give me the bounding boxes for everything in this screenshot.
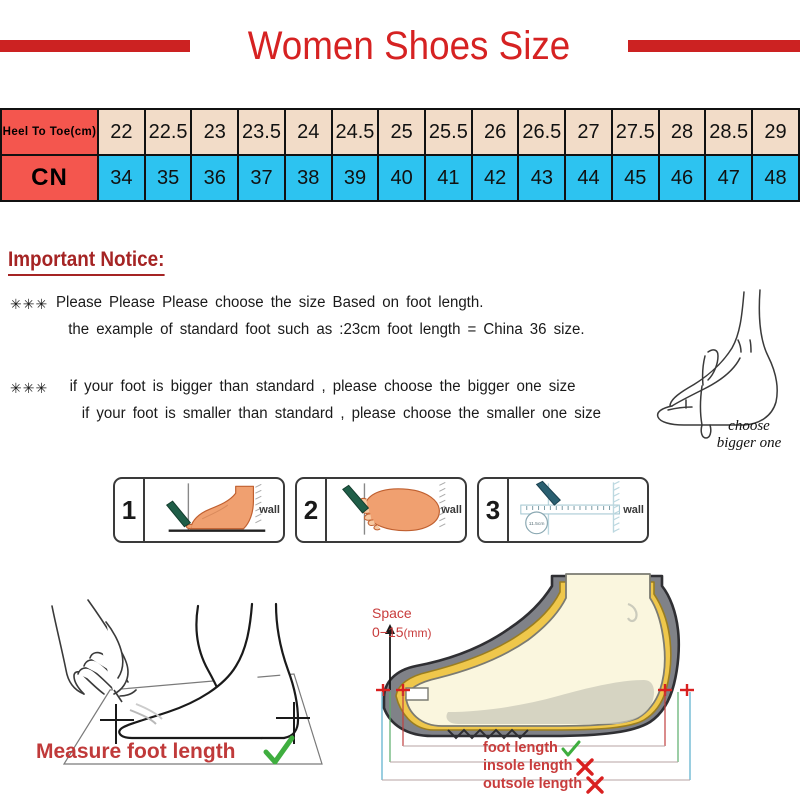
notice-line: if your foot is smaller than standard , … [10,401,650,426]
wall-label: wall [259,504,280,516]
title-rule-right [628,40,800,52]
cn-cell: 48 [752,155,799,201]
wall-label: wall [623,504,644,516]
choose-bigger-one-caption: choose bigger one [694,418,800,452]
measurement-label: foot length [483,740,558,758]
step-number: 2 [297,479,327,541]
cn-cell: 44 [565,155,612,201]
size-conversion-table: Heel To Toe(cm) 22 22.5 23 23.5 24 24.5 … [0,108,800,202]
row-header-heel-to-toe: Heel To Toe(cm) [1,109,98,155]
cm-cell: 24.5 [332,109,379,155]
page-title: Women Shoes Size [208,26,611,66]
cn-cell: 34 [98,155,145,201]
cn-cell: 45 [612,155,659,201]
cn-cell: 38 [285,155,332,201]
measuring-steps: 1 wall [113,477,649,543]
caption-line-1: choose [694,418,800,435]
cn-cell: 40 [378,155,425,201]
step-number: 1 [115,479,145,541]
cm-cell: 25 [378,109,425,155]
step-panel-1: 1 wall [113,477,285,543]
step-panel-3: 3 11.5cm [477,477,649,543]
notice-line: if your foot is bigger than standard , p… [56,374,652,399]
cn-cell: 41 [425,155,472,201]
bullet-stars-icon: ✳✳✳ [10,374,56,401]
cm-cell: 25.5 [425,109,472,155]
caption-line-2: bigger one [694,435,800,452]
cn-cell: 46 [659,155,706,201]
magnifier-value: 11.5cm [529,521,545,527]
table-row-cn: CN 34 35 36 37 38 39 40 41 42 43 44 45 4… [1,155,799,201]
cm-cell: 26 [472,109,519,155]
cm-cell: 26.5 [518,109,565,155]
check-icon [561,740,581,758]
cm-cell: 28.5 [705,109,752,155]
measure-foot-caption: Measure foot length [36,740,236,764]
notice-line: the example of standard foot such as :23… [10,317,650,342]
row-header-cn: CN [1,155,98,201]
bullet-stars-icon: ✳✳✳ [10,290,56,317]
cm-cell: 28 [659,109,706,155]
notice-bullet-1: ✳✳✳ Please Please Please choose the size… [10,290,670,342]
check-icon [262,735,296,769]
step-illustration-2: wall [327,479,465,541]
space-label-unit: (mm) [404,626,432,640]
notice-line: Please Please Please choose the size Bas… [56,290,652,315]
measurement-row-outsole: outsole length [483,776,605,794]
cn-cell: 39 [332,155,379,201]
important-notice-heading: Important Notice: [8,248,164,276]
cm-cell: 23.5 [238,109,285,155]
cn-cell: 47 [705,155,752,201]
cm-cell: 22.5 [145,109,192,155]
step-illustration-3: 11.5cm wall [509,479,647,541]
step-panel-2: 2 wal [295,477,467,543]
cm-cell: 22 [98,109,145,155]
cm-cell: 27 [565,109,612,155]
size-guide-page: Women Shoes Size Heel To Toe(cm) 22 22.5… [0,0,800,800]
cm-cell: 29 [752,109,799,155]
space-label-line-1: Space [372,604,432,623]
measurement-label: outsole length [483,776,582,794]
length-measurement-labels: foot length insole length outsole length [483,740,605,794]
measurement-label: insole length [483,758,572,776]
step-number: 3 [479,479,509,541]
space-label: Space 0−15(mm) [372,604,432,643]
space-label-value: 0−15 [372,624,404,640]
measurement-row-foot: foot length [483,740,605,758]
cn-cell: 37 [238,155,285,201]
table-row-cm: Heel To Toe(cm) 22 22.5 23 23.5 24 24.5 … [1,109,799,155]
measurement-row-insole: insole length [483,758,605,776]
cn-cell: 36 [191,155,238,201]
notice-bullet-2: ✳✳✳ if your foot is bigger than standard… [10,374,670,426]
cn-cell: 43 [518,155,565,201]
cross-icon [575,758,595,776]
cross-icon [585,776,605,794]
page-title-band: Women Shoes Size [0,18,800,74]
cn-cell: 35 [145,155,192,201]
cm-cell: 27.5 [612,109,659,155]
cm-cell: 24 [285,109,332,155]
cn-cell: 42 [472,155,519,201]
wall-label: wall [441,504,462,516]
title-rule-left [0,40,190,52]
step-illustration-1: wall [145,479,283,541]
cm-cell: 23 [191,109,238,155]
